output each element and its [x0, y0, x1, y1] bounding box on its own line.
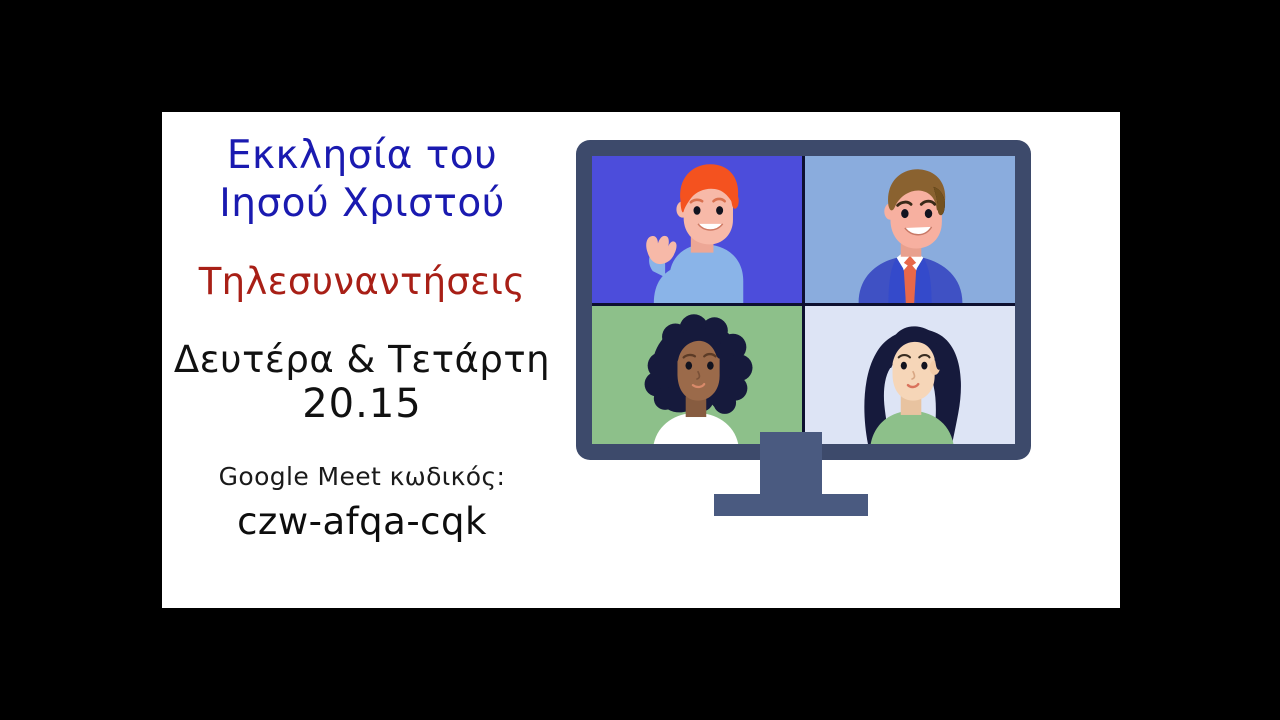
organization-line-2: Ιησού Χριστού [219, 182, 505, 226]
monitor-stand-neck [760, 432, 822, 494]
subject-heading: Τηλεσυναντήσεις [199, 261, 525, 302]
participant-tile-waving-man [592, 156, 802, 303]
monitor-screen [592, 156, 1015, 444]
poster-text-column: Εκκλησία του Ιησού Χριστού Τηλεσυναντήσε… [162, 112, 562, 608]
platform-label: Google Meet κωδικός: [219, 463, 506, 491]
monitor-stand-base [714, 494, 868, 516]
participant-tile-curly-hair-woman [592, 306, 802, 444]
schedule-time: 20.15 [302, 382, 422, 427]
participant-tile-long-hair-woman [805, 306, 1015, 444]
video-call-monitor-illustration [576, 140, 1031, 460]
meeting-code: czw-afqa-cqk [237, 501, 487, 542]
organization-line-1: Εκκλησία του [227, 134, 497, 178]
schedule-days: Δευτέρα & Τετάρτη [174, 339, 550, 380]
participant-tile-suited-man [805, 156, 1015, 303]
poster-illustration-column [562, 112, 1120, 608]
poster-card: Εκκλησία του Ιησού Χριστού Τηλεσυναντήσε… [162, 112, 1120, 608]
participant-tile-grid [592, 156, 1015, 444]
